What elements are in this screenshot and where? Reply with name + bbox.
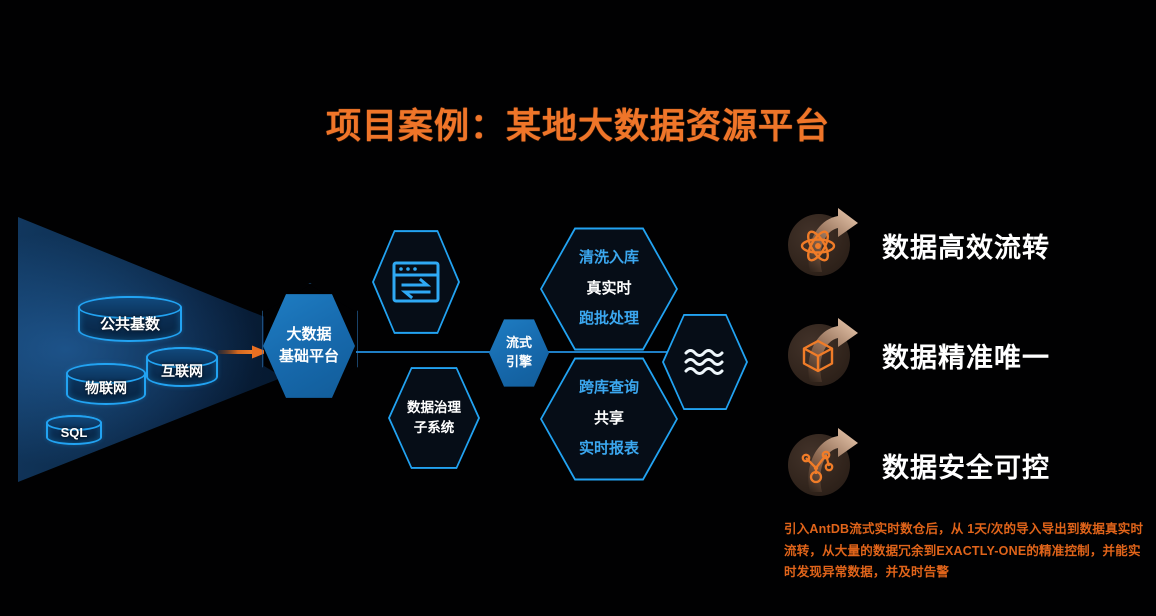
node-network-icon xyxy=(798,446,838,486)
connector-platform-to-engine xyxy=(348,351,492,353)
hex-node-query[interactable]: 跨库查询 共享 实时报表 xyxy=(540,355,678,483)
source-label: SQL xyxy=(61,425,88,440)
hex-label: 流式 引擎 xyxy=(506,334,532,372)
governance-line-1: 数据治理 xyxy=(407,398,461,418)
ingest-line-1: 清洗入库 xyxy=(579,243,639,274)
hex-node-data-lake[interactable] xyxy=(662,312,748,412)
feature-icon-wrap xyxy=(786,206,864,284)
ingest-line-2: 真实时 xyxy=(579,274,639,305)
hex-node-governance[interactable]: 数据治理 子系统 xyxy=(388,365,480,471)
feature-row-efficiency[interactable]: 数据高效流转 xyxy=(786,206,1050,284)
hex-label: 大数据 基础平台 xyxy=(279,324,339,368)
engine-line-1: 流式 xyxy=(506,334,532,353)
feature-label: 数据高效流转 xyxy=(882,226,1050,265)
ingest-line-3: 跑批处理 xyxy=(579,304,639,335)
water-waves-icon xyxy=(682,346,728,378)
governance-line-2: 子系统 xyxy=(407,418,461,438)
feature-icon-wrap xyxy=(786,426,864,504)
feature-row-security[interactable]: 数据安全可控 xyxy=(786,426,1050,504)
query-line-1: 跨库查询 xyxy=(579,373,639,404)
atom-icon xyxy=(798,226,838,266)
source-cylinder-public[interactable]: 公共基数 xyxy=(78,296,182,342)
window-exchange-icon xyxy=(390,259,442,305)
engine-line-2: 引擎 xyxy=(506,353,532,372)
platform-line-2: 基础平台 xyxy=(279,346,339,368)
hex-node-exchange[interactable] xyxy=(372,228,460,336)
cube-box-icon xyxy=(798,336,838,376)
feed-arrow-icon xyxy=(218,345,268,359)
source-label: 公共基数 xyxy=(100,313,160,334)
feature-icon-wrap xyxy=(786,316,864,394)
hex-node-platform[interactable]: 大数据 基础平台 xyxy=(263,292,355,400)
slide-canvas: 项目案例：某地大数据资源平台 公共基数 互联网 物联网 SQL xyxy=(0,0,1156,616)
hex-label: 清洗入库 真实时 跑批处理 xyxy=(579,243,639,335)
hex-label: 数据治理 子系统 xyxy=(407,398,461,437)
source-label: 物联网 xyxy=(85,378,127,398)
source-cylinder-internet[interactable]: 互联网 xyxy=(146,347,218,387)
hex-node-ingest[interactable]: 清洗入库 真实时 跑批处理 xyxy=(540,225,678,353)
source-cylinder-sql[interactable]: SQL xyxy=(46,415,102,445)
source-label: 互联网 xyxy=(161,361,203,381)
query-line-3: 实时报表 xyxy=(579,434,639,465)
feature-label: 数据精准唯一 xyxy=(882,336,1050,375)
page-title: 项目案例：某地大数据资源平台 xyxy=(0,98,1156,149)
query-line-2: 共享 xyxy=(579,404,639,435)
hex-label: 跨库查询 共享 实时报表 xyxy=(579,373,639,465)
feature-label: 数据安全可控 xyxy=(882,446,1050,485)
source-cylinder-iot[interactable]: 物联网 xyxy=(66,363,146,405)
feature-row-accuracy[interactable]: 数据精准唯一 xyxy=(786,316,1050,394)
platform-line-1: 大数据 xyxy=(279,324,339,346)
footnote-text: 引入AntDB流式实时数仓后，从 1天/次的导入导出到数据真实时流转，从大量的数… xyxy=(784,519,1144,584)
